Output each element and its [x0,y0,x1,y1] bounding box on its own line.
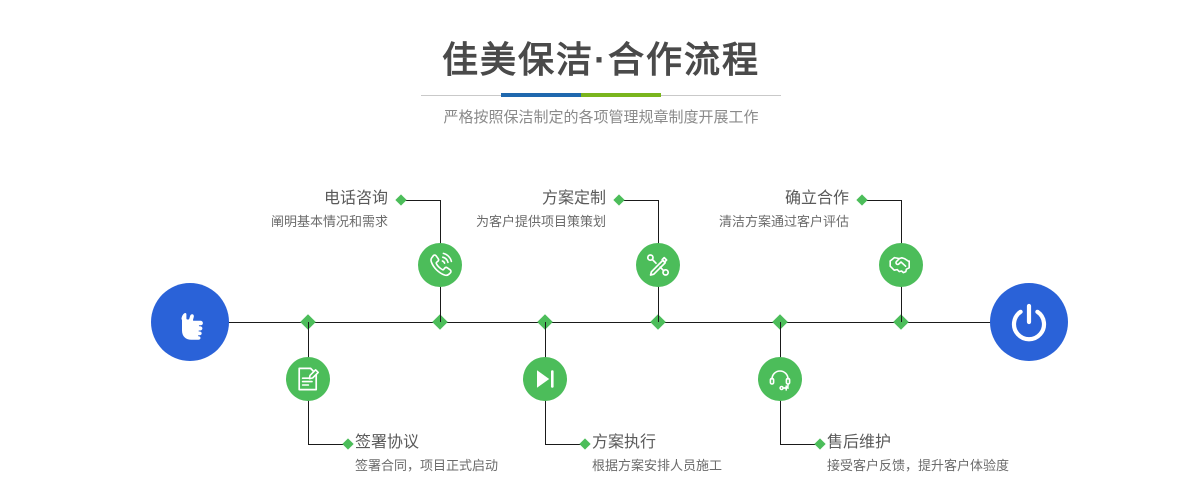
page-subtitle: 严格按照保洁制定的各项管理规章制度开展工作 [0,107,1202,129]
step-title: 电话咨询 [271,188,388,210]
step-node-phone-consult[interactable] [418,243,462,287]
step-desc: 阐明基本情况和需求 [271,212,388,232]
page-title: 佳美保洁·合作流程 [0,38,1202,82]
play-execute-icon [532,366,558,392]
title-divider-green-segment [581,93,661,97]
step-desc: 签署合同，项目正式启动 [355,456,498,476]
step-label-plan-customize: 方案定制 为客户提供项目策策划 [476,188,606,232]
step-label-after-sales: 售后维护 接受客户反馈，提升客户体验度 [827,432,1009,476]
step-node-plan-customize[interactable] [636,243,680,287]
pointing-hand-icon [168,300,212,344]
handshake-icon [888,252,914,278]
step-label-plan-execute: 方案执行 根据方案安排人员施工 [592,432,722,476]
connector-tip-dot [856,194,867,205]
connector-horizontal [619,200,659,201]
step-label-phone-consult: 电话咨询 阐明基本情况和需求 [271,188,388,232]
step-desc: 为客户提供项目策策划 [476,212,606,232]
document-edit-icon [295,366,321,392]
connector-tip-dot [814,438,825,449]
title-divider-blue-segment [501,93,581,97]
process-flow-infographic: 佳美保洁·合作流程 严格按照保洁制定的各项管理规章制度开展工作 [0,0,1202,502]
step-node-establish-cooperation[interactable] [879,243,923,287]
connector-tip-dot [613,194,624,205]
step-title: 签署协议 [355,432,498,454]
step-label-sign-agreement: 签署协议 签署合同，项目正式启动 [355,432,498,476]
connector-tip-dot [579,438,590,449]
connector-horizontal [401,200,441,201]
connector-tip-dot [395,194,406,205]
connector-tip-dot [342,438,353,449]
step-node-sign-agreement[interactable] [286,357,330,401]
step-label-establish-cooperation: 确立合作 清洁方案通过客户评估 [719,188,849,232]
pencil-ruler-icon [645,252,671,278]
timeline-start-node[interactable] [151,283,229,361]
step-desc: 接受客户反馈，提升客户体验度 [827,456,1009,476]
step-desc: 根据方案安排人员施工 [592,456,722,476]
step-title: 方案执行 [592,432,722,454]
step-desc: 清洁方案通过客户评估 [719,212,849,232]
step-node-plan-execute[interactable] [523,357,567,401]
step-node-after-sales[interactable] [758,357,802,401]
step-title: 方案定制 [476,188,606,210]
timeline-end-node[interactable] [990,283,1068,361]
power-button-icon [1005,298,1053,346]
phone-call-icon [427,252,453,278]
connector-horizontal [862,200,902,201]
step-title: 售后维护 [827,432,1009,454]
support-agent-icon [767,366,793,392]
step-title: 确立合作 [719,188,849,210]
